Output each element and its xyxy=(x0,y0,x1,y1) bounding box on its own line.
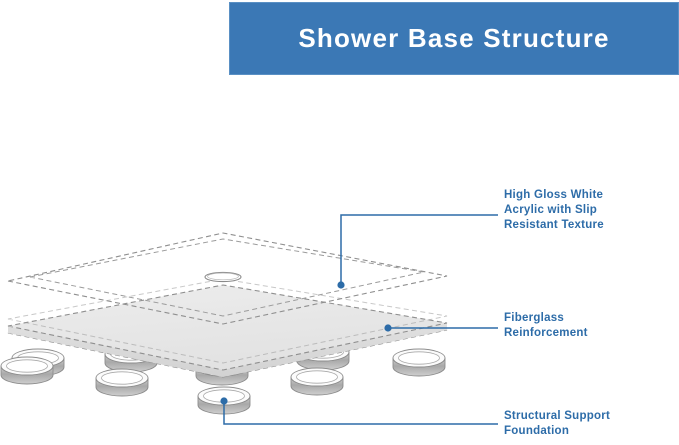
callout-acrylic: High Gloss White Acrylic with Slip Resis… xyxy=(504,188,604,233)
leader-line-support xyxy=(220,397,498,424)
callout-acrylic-line1: High Gloss White xyxy=(504,189,603,201)
fiberglass-slab xyxy=(8,279,447,377)
drain-opening xyxy=(205,272,241,281)
support-cylinder xyxy=(393,349,445,376)
support-cylinder xyxy=(291,368,343,395)
callout-support-line1: Structural Support xyxy=(504,410,610,422)
leader-line-acrylic xyxy=(337,215,498,289)
callout-acrylic-line3: Resistant Texture xyxy=(504,218,604,233)
callout-fiberglass-line2: Reinforcement xyxy=(504,326,588,341)
callout-fiberglass: Fiberglass Reinforcement xyxy=(504,311,588,341)
support-cylinder xyxy=(1,357,53,384)
callout-support-line2: Foundation xyxy=(504,424,610,439)
callout-support: Structural Support Foundation xyxy=(504,409,610,439)
callout-acrylic-line2: Acrylic with Slip xyxy=(504,203,604,218)
diagram-root: Shower Base Structure xyxy=(0,0,679,445)
support-cylinder xyxy=(96,369,148,396)
callout-fiberglass-line1: Fiberglass xyxy=(504,312,564,324)
